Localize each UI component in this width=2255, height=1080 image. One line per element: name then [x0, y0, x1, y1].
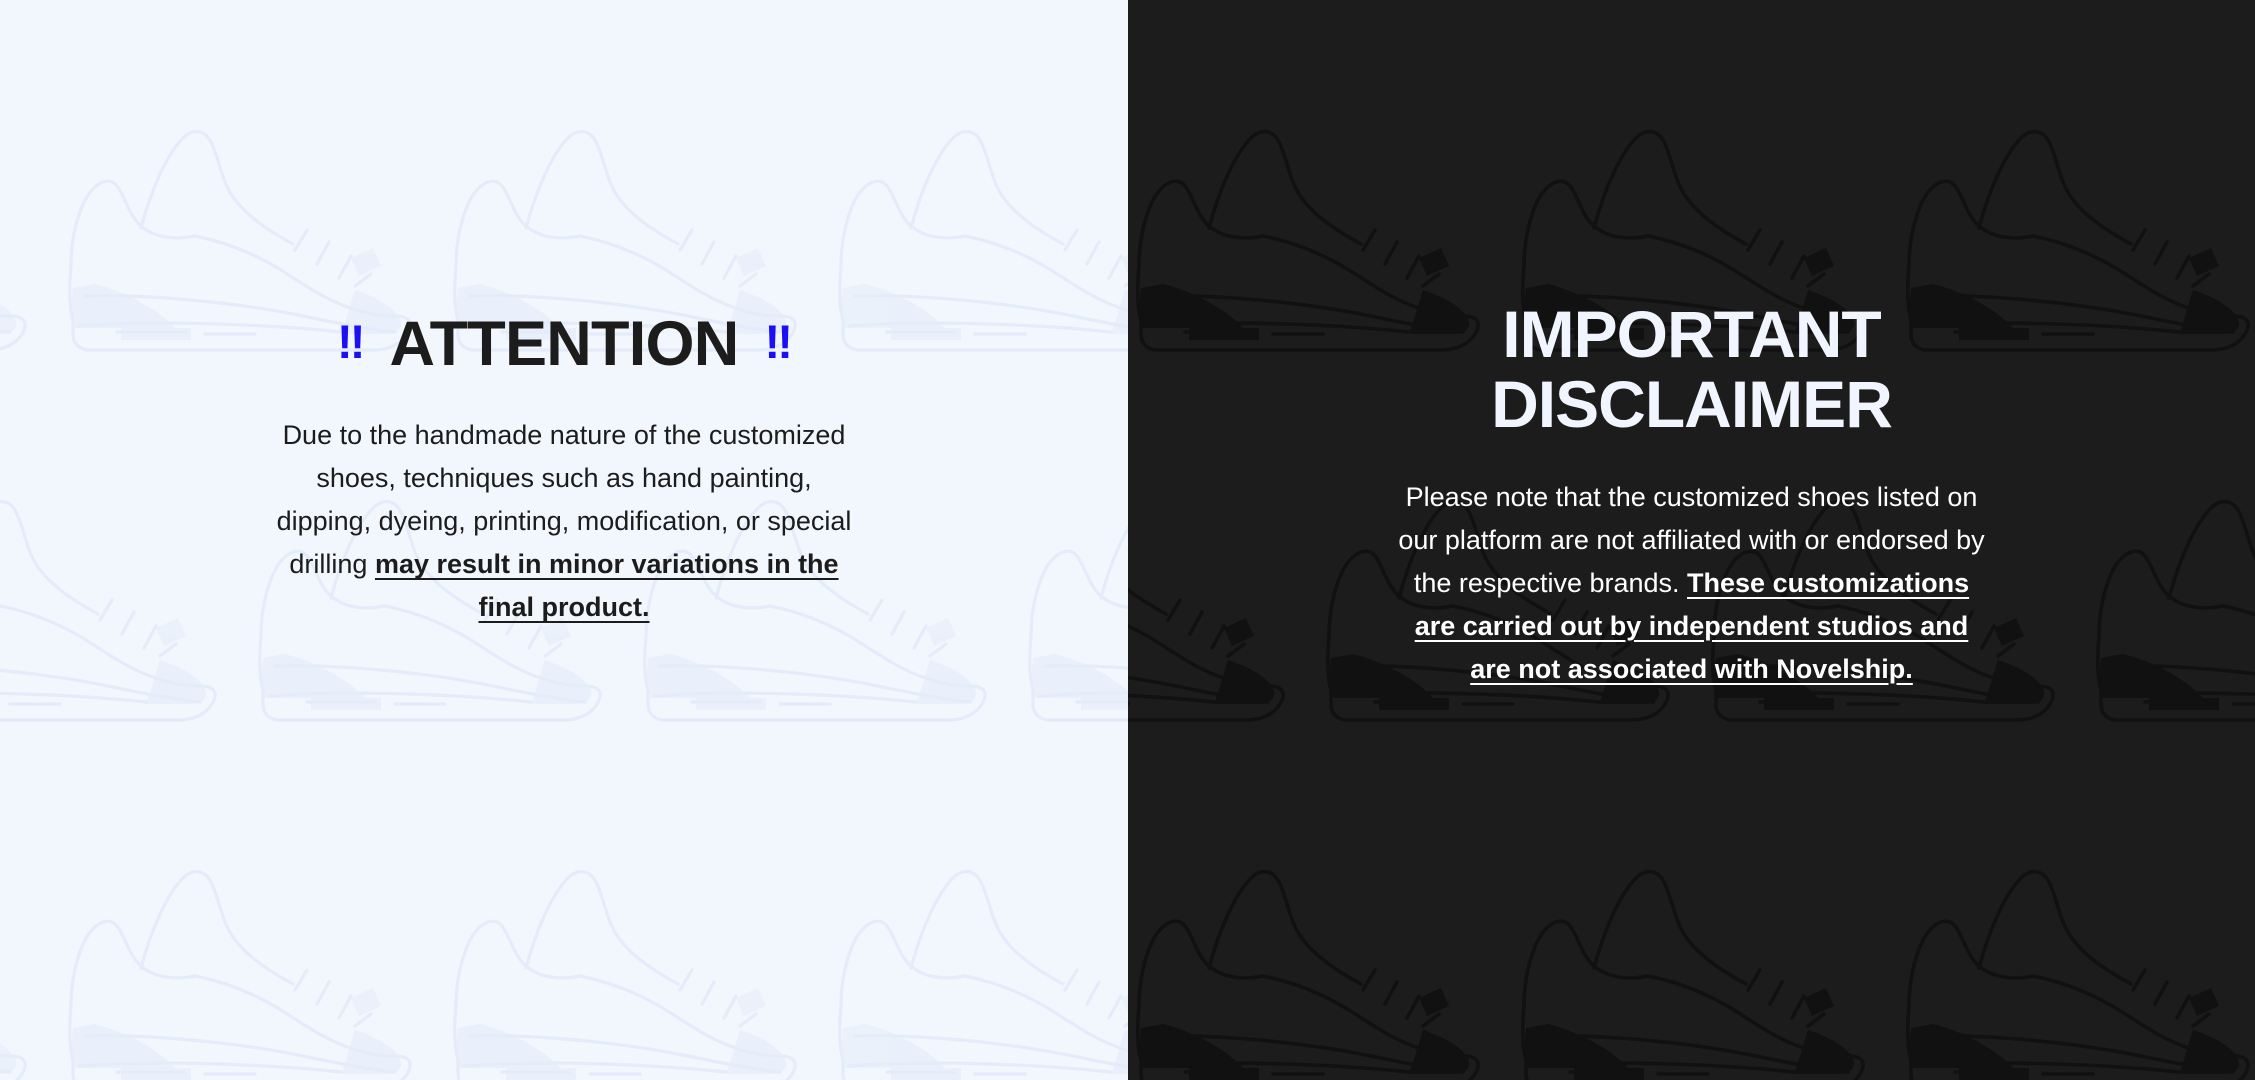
double-exclamation-right-icon: ‼	[765, 318, 792, 366]
attention-body-emphasis: may result in minor variations in the fi…	[375, 549, 839, 622]
attention-content: ‼ ATTENTION ‼ Due to the handmade nature…	[0, 312, 1128, 629]
disclaimer-panel: IMPORTANT DISCLAIMER Please note that th…	[1128, 0, 2255, 1080]
disclaimer-heading-line2: DISCLAIMER	[1128, 370, 2255, 440]
disclaimer-content: IMPORTANT DISCLAIMER Please note that th…	[1128, 300, 2255, 691]
attention-heading: ‼ ATTENTION ‼	[0, 312, 1128, 376]
disclaimer-banner: ‼ ATTENTION ‼ Due to the handmade nature…	[0, 0, 2255, 1080]
attention-panel: ‼ ATTENTION ‼ Due to the handmade nature…	[0, 0, 1128, 1080]
disclaimer-heading-line1: IMPORTANT	[1128, 300, 2255, 370]
disclaimer-body: Please note that the customized shoes li…	[1392, 476, 1992, 691]
disclaimer-heading: IMPORTANT DISCLAIMER	[1128, 300, 2255, 440]
double-exclamation-left-icon: ‼	[337, 318, 364, 366]
attention-heading-text: ATTENTION	[390, 312, 739, 376]
attention-body: Due to the handmade nature of the custom…	[274, 414, 854, 629]
